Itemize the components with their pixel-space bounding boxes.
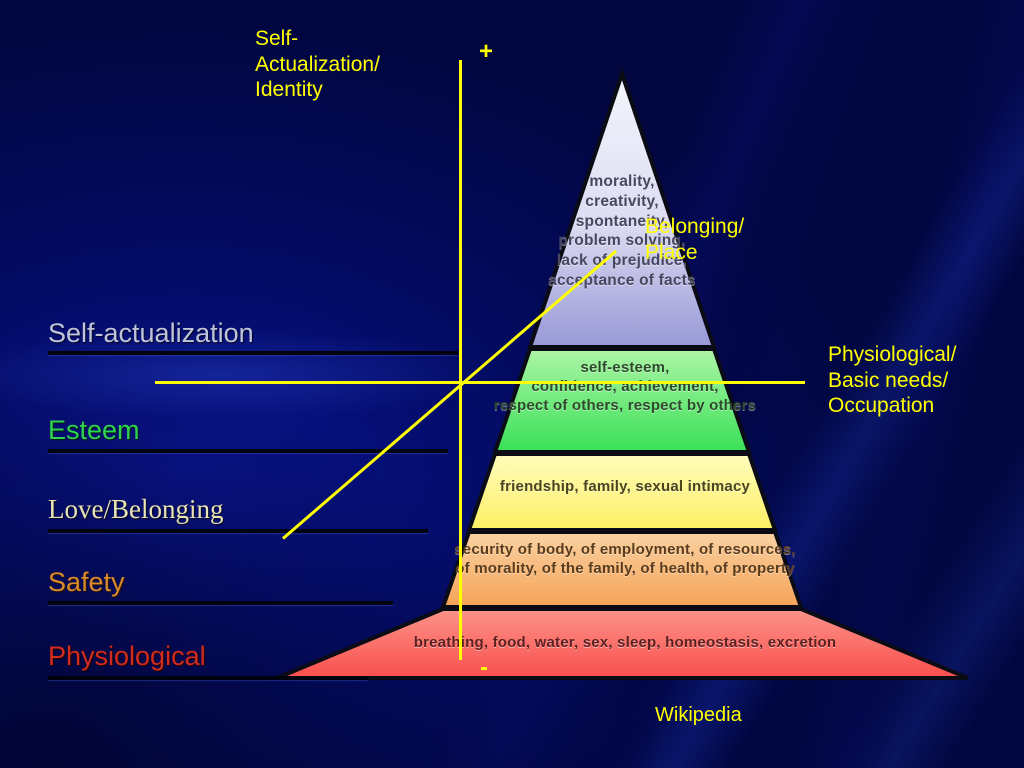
stage-label-love-belonging: Love/Belonging — [48, 494, 223, 525]
stage-label-physiological: Physiological — [48, 641, 206, 672]
stage-rule-love-belonging — [48, 529, 428, 533]
annotation-self-actualization-identity: Self- Actualization/ Identity — [255, 26, 380, 103]
stage-rule-self-actualization — [48, 351, 458, 355]
pyramid-tier-safety — [443, 532, 801, 607]
annotation-physiological-basic-needs-occupation: Physiological/ Basic needs/ Occupation — [828, 342, 956, 419]
pyramid-tier-esteem — [495, 349, 749, 452]
annotation-vertical-axis — [459, 60, 462, 660]
stage-rule-safety — [48, 601, 393, 605]
stage-label-safety: Safety — [48, 567, 125, 598]
annotation-belonging-place: Belonging/ Place — [645, 214, 744, 265]
minus-sign: - — [480, 654, 488, 682]
stage-label-esteem: Esteem — [48, 415, 140, 446]
stage-label-self-actualization: Self-actualization — [48, 318, 254, 349]
annotation-horizontal-axis — [155, 381, 805, 384]
slide-canvas: morality, creativity, spontaneity, probl… — [0, 0, 1024, 768]
plus-sign: + — [479, 38, 493, 66]
source-credit-wikipedia: Wikipedia — [655, 703, 742, 727]
pyramid-tier-physiological — [277, 609, 968, 678]
pyramid-tier-love-belonging — [469, 454, 775, 530]
pyramid-tier-self-actualization — [530, 74, 714, 347]
stage-rule-physiological — [48, 676, 368, 680]
